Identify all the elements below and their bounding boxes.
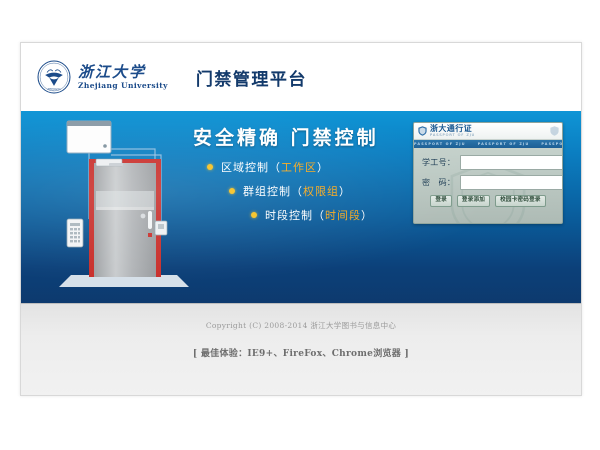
- login-panel: 浙大通行证 PASSPORT OF ZJU PASSPORT OF ZJU PA…: [413, 122, 563, 224]
- page-title: 门禁管理平台: [196, 65, 307, 90]
- feature-timeslot-highlight: 时间段: [325, 207, 361, 223]
- username-input[interactable]: [460, 155, 563, 170]
- site-header: ZHEJIANG 浙江大学 Zhejiang University 门禁管理平台: [21, 43, 581, 111]
- password-row: 密 码：: [422, 175, 554, 190]
- login-button-row: 登录 登录添加 校园卡密码登录: [422, 195, 554, 207]
- university-logo[interactable]: ZHEJIANG 浙江大学 Zhejiang University: [37, 60, 168, 94]
- shield-icon: [418, 126, 427, 136]
- hero-banner: 安全精确 门禁控制 区域控制（ 工作区 ） 群组控制（ 权限组 ） 时段控制（ …: [21, 111, 581, 303]
- bullet-dot-icon: [251, 212, 257, 218]
- banner-slogan: 安全精确 门禁控制: [193, 123, 379, 150]
- strip-text: PASSPORT OF ZJU: [414, 142, 466, 146]
- feature-group-tail: ）: [339, 183, 351, 199]
- feature-list: 区域控制（ 工作区 ） 群组控制（ 权限组 ） 时段控制（ 时间段 ）: [207, 159, 373, 231]
- feature-group-highlight: 权限组: [303, 183, 339, 199]
- browser-compatibility-text: [ 最佳体验：IE9+、FireFox、Chrome浏览器 ]: [193, 346, 409, 359]
- feature-item-timeslot: 时段控制（ 时间段 ）: [251, 207, 373, 223]
- university-name-cn: 浙江大学: [78, 65, 168, 80]
- login-form: 学工号： 密 码： 登录 登录添加 校园卡密码登录: [414, 148, 562, 207]
- bullet-dot-icon: [207, 164, 213, 170]
- site-footer: Copyright (C) 2008-2014 浙江大学图书与信息中心 [ 最佳…: [21, 303, 581, 396]
- site-page: ZHEJIANG 浙江大学 Zhejiang University 门禁管理平台: [20, 42, 582, 396]
- feature-group-text: 群组控制（: [243, 183, 303, 199]
- username-row: 学工号：: [422, 155, 554, 170]
- strip-text: PASSPORT OF ZJU: [541, 142, 562, 146]
- feature-area-highlight: 工作区: [281, 159, 317, 175]
- password-label: 密 码：: [422, 177, 455, 188]
- password-input[interactable]: [460, 175, 563, 190]
- campus-card-password-login-button[interactable]: 校园卡密码登录: [495, 195, 546, 207]
- feature-item-group: 群组控制（ 权限组 ）: [229, 183, 373, 199]
- login-button[interactable]: 登录: [430, 195, 452, 207]
- login-brand-en: PASSPORT OF ZJU: [430, 134, 475, 138]
- copyright-text: Copyright (C) 2008-2014 浙江大学图书与信息中心: [206, 320, 396, 331]
- login-panel-header: 浙大通行证 PASSPORT OF ZJU: [414, 123, 562, 140]
- zju-seal-icon: ZHEJIANG: [37, 60, 71, 94]
- university-name-en: Zhejiang University: [78, 82, 168, 90]
- login-add-button[interactable]: 登录添加: [457, 195, 490, 207]
- shield-corner-icon: [550, 126, 559, 136]
- username-label: 学工号：: [422, 157, 455, 168]
- feature-area-text: 区域控制（: [221, 159, 281, 175]
- login-brand-cn: 浙大通行证: [430, 125, 475, 133]
- strip-text: PASSPORT OF ZJU: [478, 142, 530, 146]
- passport-strip: PASSPORT OF ZJU PASSPORT OF ZJU PASSPORT…: [414, 140, 562, 148]
- feature-timeslot-text: 时段控制（: [265, 207, 325, 223]
- feature-timeslot-tail: ）: [361, 207, 373, 223]
- access-control-door-illustration: [49, 115, 199, 295]
- feature-item-area: 区域控制（ 工作区 ）: [207, 159, 373, 175]
- feature-area-tail: ）: [317, 159, 329, 175]
- bullet-dot-icon: [229, 188, 235, 194]
- svg-text:ZHEJIANG: ZHEJIANG: [47, 88, 60, 91]
